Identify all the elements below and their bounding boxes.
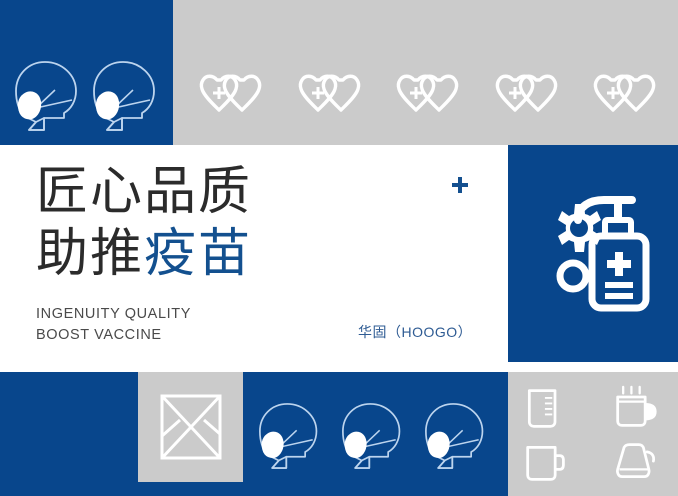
masked-head-icon	[92, 56, 162, 136]
double-heart-plus-icon	[193, 74, 269, 128]
plus-icon	[450, 175, 470, 195]
subheadline-line-2: BOOST VACCINE	[36, 325, 162, 346]
top-mask-icon-row	[14, 55, 164, 137]
headline-line-1: 匠心品质	[36, 166, 252, 218]
double-heart-plus-icon	[390, 74, 466, 128]
brand-label: 华固（HOOGO）	[358, 322, 472, 342]
mug-icon	[522, 440, 574, 484]
kettle-icon	[612, 440, 664, 484]
poster-canvas: 匠心品质 助推疫苗 INGENUITY QUALITY BOOST VACCIN…	[0, 0, 678, 496]
hand-sanitizer-bottle-icon	[532, 190, 658, 320]
bottom-mask-icon-row	[258, 390, 490, 482]
steaming-cup-icon	[612, 386, 664, 430]
double-heart-plus-icon	[587, 74, 663, 128]
double-heart-plus-icon	[292, 74, 368, 128]
measuring-beaker-icon	[522, 386, 574, 430]
masked-head-icon	[341, 396, 407, 476]
headline-line-2: 助推疫苗	[36, 228, 252, 280]
top-heart-icon-row	[193, 72, 663, 130]
bottom-vessel-icon-grid	[522, 386, 664, 484]
headline-line-2-dark: 助推	[36, 225, 144, 283]
subheadline-line-1: INGENUITY QUALITY	[36, 304, 191, 325]
masked-head-icon	[424, 396, 490, 476]
headline-line-2-blue: 疫苗	[144, 225, 252, 283]
masked-head-icon	[258, 396, 324, 476]
masked-head-icon	[14, 56, 84, 136]
double-heart-plus-icon	[489, 74, 565, 128]
circle-icon	[560, 263, 586, 289]
broken-image-icon	[160, 394, 222, 460]
